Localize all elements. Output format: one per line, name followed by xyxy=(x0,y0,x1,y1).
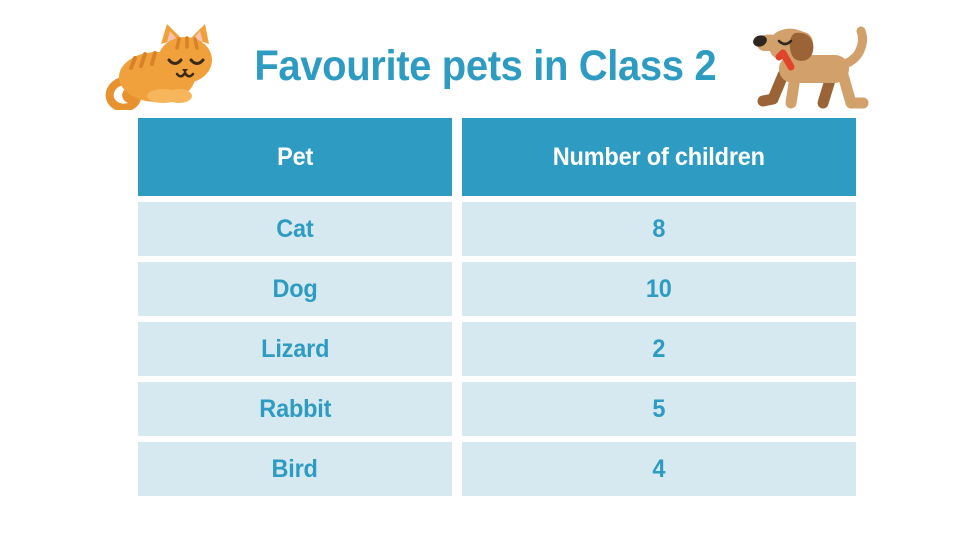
cell-pet-label: Dog xyxy=(272,275,317,304)
cell-pet: Lizard xyxy=(138,322,452,376)
cell-count: 8 xyxy=(462,202,856,256)
cell-count: 4 xyxy=(462,442,856,496)
column-header-count-label: Number of children xyxy=(553,143,765,172)
table-row: Rabbit 5 xyxy=(138,382,856,436)
cell-count: 10 xyxy=(462,262,856,316)
cat-illustration xyxy=(101,22,219,110)
cell-pet-label: Lizard xyxy=(261,335,329,364)
title-band: Favourite pets in Class 2 xyxy=(0,18,976,114)
cell-count: 5 xyxy=(462,382,856,436)
cell-count-value: 2 xyxy=(653,335,666,364)
pets-table: Pet Number of children Cat 8 Dog 10 xyxy=(138,118,856,496)
column-header-count: Number of children xyxy=(462,118,856,196)
cell-pet-label: Rabbit xyxy=(259,395,331,424)
table-row: Lizard 2 xyxy=(138,322,856,376)
cell-pet: Cat xyxy=(138,202,452,256)
cell-pet: Dog xyxy=(138,262,452,316)
cell-count-value: 5 xyxy=(653,395,666,424)
cell-count-value: 4 xyxy=(653,455,666,484)
table-header-row: Pet Number of children xyxy=(138,118,856,196)
cell-pet: Rabbit xyxy=(138,382,452,436)
cell-count: 2 xyxy=(462,322,856,376)
column-header-pet-label: Pet xyxy=(277,143,313,172)
dog-illustration xyxy=(751,19,875,113)
worksheet-page: Favourite pets in Class 2 xyxy=(0,0,976,549)
cell-pet-label: Bird xyxy=(272,455,318,484)
page-title: Favourite pets in Class 2 xyxy=(254,45,716,88)
table-row: Dog 10 xyxy=(138,262,856,316)
cell-count-value: 10 xyxy=(646,275,672,304)
cell-count-value: 8 xyxy=(653,215,666,244)
cell-pet-label: Cat xyxy=(276,215,313,244)
column-header-pet: Pet xyxy=(138,118,452,196)
table-row: Bird 4 xyxy=(138,442,856,496)
table-row: Cat 8 xyxy=(138,202,856,256)
cell-pet: Bird xyxy=(138,442,452,496)
